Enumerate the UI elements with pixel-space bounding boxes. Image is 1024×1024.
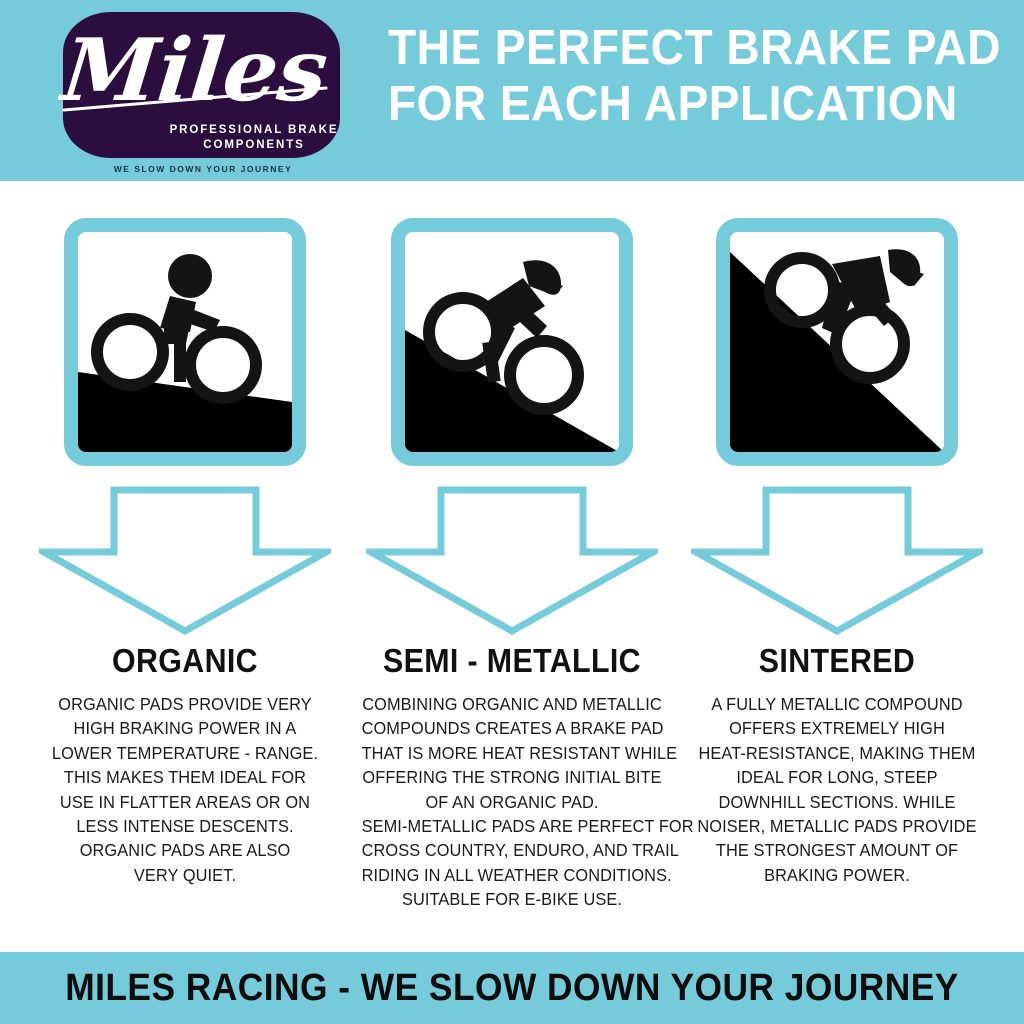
body-line: SUITABLE FOR E-BIKE USE. [362, 887, 663, 911]
body-line: COMBINING ORGANIC AND METALLIC [362, 692, 663, 716]
infographic-page: Miles PROFESSIONAL BRAKE COMPONENTS WE S… [0, 0, 1024, 1024]
column-body-organic: ORGANIC PADS PROVIDE VERY HIGH BRAKING P… [35, 692, 336, 887]
column-title-organic: ORGANIC [38, 642, 332, 680]
body-line: OF AN ORGANIC PAD. [362, 790, 663, 814]
logo-subtitle-line-1: PROFESSIONAL BRAKE [164, 123, 344, 137]
column-body-semi-metallic: COMBINING ORGANIC AND METALLIC COMPOUNDS… [362, 692, 663, 912]
body-line: ORGANIC PADS PROVIDE VERY [35, 692, 336, 716]
body-line: ORGANIC PADS ARE ALSO [35, 838, 336, 862]
page-title-line-2: FOR EACH APPLICATION [388, 76, 952, 132]
body-line: HIGH BRAKING POWER IN A [35, 716, 336, 740]
down-arrow-semi-metallic [366, 486, 658, 636]
body-line: A FULLY METALLIC COMPOUND [687, 692, 988, 716]
logo-tagline: WE SLOW DOWN YOUR JOURNEY [58, 164, 348, 174]
body-line: THIS MAKES THEM IDEAL FOR [35, 765, 336, 789]
body-line: LESS INTENSE DESCENTS. [35, 814, 336, 838]
icon-box-semi-metallic [391, 218, 633, 466]
down-arrow-sintered [691, 486, 983, 636]
column-title-sintered: SINTERED [690, 642, 984, 680]
column-title-semi-metallic: SEMI - METALLIC [365, 642, 659, 680]
body-line: USE IN FLATTER AREAS OR ON [35, 790, 336, 814]
column-sintered: SINTERED A FULLY METALLIC COMPOUND OFFER… [672, 210, 1002, 887]
column-body-sintered: A FULLY METALLIC COMPOUND OFFERS EXTREME… [687, 692, 988, 887]
body-line: BRAKING POWER. [687, 863, 988, 887]
body-line: OFFERING THE STRONG INITIAL BITE [362, 765, 663, 789]
column-organic: ORGANIC ORGANIC PADS PROVIDE VERY HIGH B… [20, 210, 350, 887]
body-line: SEMI-METALLIC PADS ARE PERFECT FOR [362, 814, 663, 838]
down-arrow-organic [39, 486, 331, 636]
body-line: OFFERS EXTREMELY HIGH [687, 716, 988, 740]
body-line: IDEAL FOR LONG, STEEP [687, 765, 988, 789]
footer-tagline: MILES RACING - WE SLOW DOWN YOUR JOURNEY [36, 952, 988, 1024]
column-semi-metallic: SEMI - METALLIC COMBINING ORGANIC AND ME… [347, 210, 677, 912]
cyclist-gentle-slope-icon [78, 232, 292, 452]
footer-banner: MILES RACING - WE SLOW DOWN YOUR JOURNEY [0, 952, 1024, 1024]
icon-box-sintered [716, 218, 958, 466]
header-banner: Miles PROFESSIONAL BRAKE COMPONENTS WE S… [0, 0, 1024, 181]
body-line: VERY QUIET. [35, 863, 336, 887]
body-line: NOISER, METALLIC PADS PROVIDE [687, 814, 988, 838]
logo-wordmark-miles: Miles [58, 14, 345, 122]
body-line: THAT IS MORE HEAT RESISTANT WHILE [362, 741, 663, 765]
body-line: DOWNHILL SECTIONS. WHILE [687, 790, 988, 814]
body-line: COMPOUNDS CREATES A BRAKE PAD [362, 716, 663, 740]
page-title: THE PERFECT BRAKE PAD FOR EACH APPLICATI… [388, 20, 952, 132]
body-line: THE STRONGEST AMOUNT OF [687, 838, 988, 862]
cyclist-medium-slope-icon [405, 232, 619, 452]
brand-logo: Miles PROFESSIONAL BRAKE COMPONENTS WE S… [58, 12, 348, 180]
cyclist-steep-slope-icon [730, 232, 944, 452]
body-line: RIDING IN ALL WEATHER CONDITIONS. [362, 863, 663, 887]
body-line: CROSS COUNTRY, ENDURO, AND TRAIL [362, 838, 663, 862]
logo-subtitle-line-2: COMPONENTS [164, 138, 344, 152]
body-line: LOWER TEMPERATURE - RANGE. [35, 741, 336, 765]
icon-box-organic [64, 218, 306, 466]
body-line: HEAT-RESISTANCE, MAKING THEM [687, 741, 988, 765]
page-title-line-1: THE PERFECT BRAKE PAD [388, 20, 952, 76]
